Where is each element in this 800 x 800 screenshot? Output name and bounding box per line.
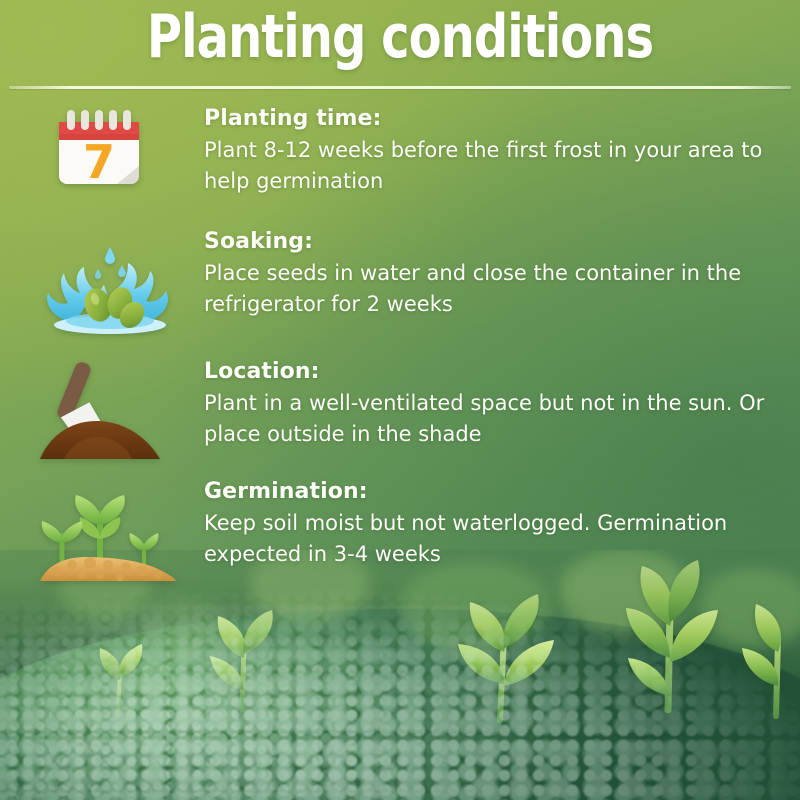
section-heading: Planting time:	[204, 104, 792, 134]
photo-top-fade	[0, 550, 800, 800]
trowel-in-soil-icon	[34, 359, 180, 459]
section-heading: Germination:	[204, 477, 792, 507]
icon-slot	[28, 357, 180, 461]
section-text: Soaking: Place seeds in water and close …	[204, 227, 792, 320]
seedling-tall	[75, 495, 125, 563]
section-text: Planting time: Plant 8-12 weeks before t…	[204, 104, 792, 197]
section-body: Keep soil moist but not waterlogged. Ger…	[204, 508, 792, 570]
water-splash-seeds-icon	[40, 245, 180, 337]
seedling-photo-band	[0, 550, 800, 800]
title-divider	[9, 86, 791, 89]
section-heading: Location:	[204, 357, 792, 387]
section-heading: Soaking:	[204, 227, 792, 257]
page-title: Planting conditions	[80, 4, 720, 70]
seedlings-sprouting-icon	[36, 485, 180, 581]
section-body: Plant in a well-ventilated space but not…	[204, 388, 792, 450]
section-text: Germination: Keep soil moist but not wat…	[204, 477, 792, 570]
icon-slot	[28, 477, 180, 581]
section-text: Location: Plant in a well-ventilated spa…	[204, 357, 792, 450]
icon-slot	[28, 227, 180, 331]
poster-canvas: Planting conditions 7 Planting time:	[0, 0, 800, 800]
section-body: Place seeds in water and close the conta…	[204, 258, 792, 320]
calendar-icon: 7	[56, 108, 142, 192]
calendar-day-number: 7	[83, 135, 115, 189]
icon-slot: 7	[28, 104, 180, 208]
water-droplets	[95, 247, 126, 279]
section-body: Plant 8-12 weeks before the first frost …	[204, 135, 792, 197]
